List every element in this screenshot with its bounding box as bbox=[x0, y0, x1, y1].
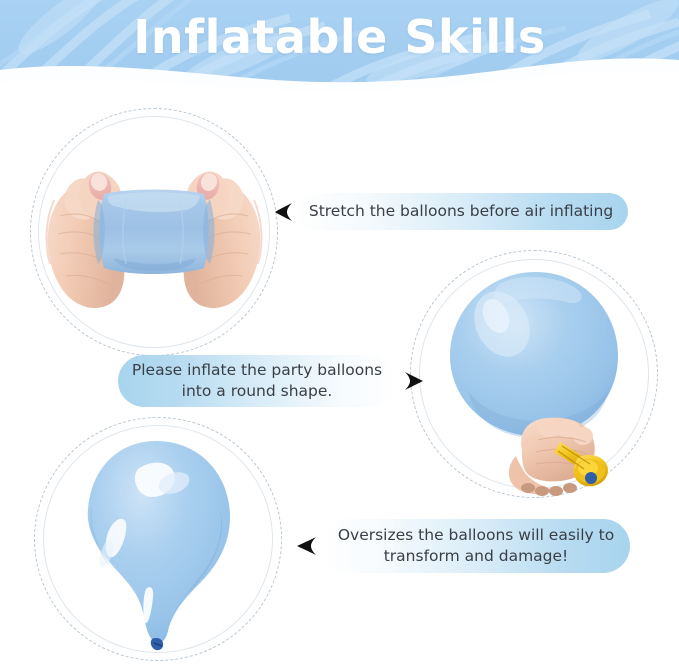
left-arrow-icon bbox=[274, 201, 294, 223]
header-banner: Inflatable Skills bbox=[0, 0, 679, 92]
callout-stretch: Stretch the balloons before air inflatin… bbox=[274, 193, 628, 230]
step-image-round bbox=[410, 250, 658, 498]
step-image-oversize bbox=[34, 417, 282, 661]
header-wave-divider bbox=[0, 52, 679, 92]
right-arrow-icon bbox=[402, 370, 424, 392]
callout-line: into a round shape. bbox=[182, 381, 333, 402]
callout-line: Please inflate the party balloons bbox=[132, 360, 382, 381]
oversized-pear-shaped-balloon-photo bbox=[34, 417, 282, 661]
callout-line: Oversizes the balloons will easily to bbox=[338, 525, 614, 546]
infographic-page: Inflatable Skills bbox=[0, 0, 679, 667]
callout-round: Please inflate the party balloons into a… bbox=[118, 355, 424, 407]
left-arrow-icon bbox=[296, 535, 318, 557]
step-image-stretch bbox=[30, 108, 278, 356]
callout-oversize: Oversizes the balloons will easily to tr… bbox=[296, 519, 630, 573]
hand-inflating-round-balloon-with-pump-photo bbox=[410, 250, 658, 498]
callout-line: transform and damage! bbox=[384, 546, 569, 567]
callout-line: Stretch the balloons before air inflatin… bbox=[309, 201, 613, 222]
callout-pill-oversize: Oversizes the balloons will easily to tr… bbox=[322, 519, 630, 573]
callout-pill-round: Please inflate the party balloons into a… bbox=[118, 355, 396, 407]
callout-pill-stretch: Stretch the balloons before air inflatin… bbox=[294, 193, 628, 230]
hands-stretching-balloon-photo bbox=[30, 108, 278, 356]
